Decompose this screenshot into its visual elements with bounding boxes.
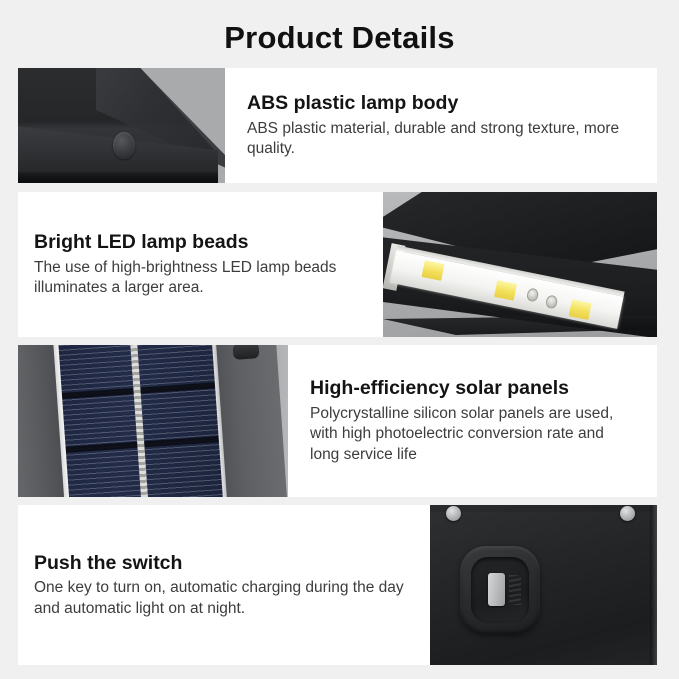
solar-frame-rail-right [211, 345, 288, 497]
solar-panel-photo [18, 345, 288, 497]
screw-hole-icon [446, 506, 461, 521]
feature-title: High-efficiency solar panels [310, 376, 635, 400]
page-title: Product Details [0, 20, 679, 56]
lamp-body-shadow [18, 172, 218, 183]
feature-row-bright-led-lamp-beads: Bright LED lamp beads The use of high-br… [18, 192, 657, 337]
solar-panel-clip [232, 345, 259, 360]
feature-title: Bright LED lamp beads [34, 230, 365, 254]
feature-card-push-the-switch: Push the switch One key to turn on, auto… [18, 505, 430, 665]
feature-description: One key to turn on, automatic charging d… [34, 578, 412, 619]
product-details-page: Product Details ABS plastic lamp body AB… [0, 0, 679, 679]
led-chip-icon [494, 280, 517, 301]
switch-marking [509, 575, 521, 605]
led-sensor-icon [526, 287, 539, 302]
feature-card-high-efficiency-solar-panels: High-efficiency solar panels Polycrystal… [288, 345, 657, 497]
lamp-body-button-icon [113, 132, 135, 159]
feature-title: Push the switch [34, 551, 412, 575]
feature-description: Polycrystalline silicon solar panels are… [310, 404, 635, 466]
feature-row-high-efficiency-solar-panels: High-efficiency solar panels Polycrystal… [18, 345, 657, 497]
feature-card-abs-plastic-lamp-body: ABS plastic lamp body ABS plastic materi… [225, 68, 657, 183]
switch-plate-edge [650, 505, 657, 665]
led-sensor-icon [545, 294, 558, 309]
led-chip-icon [422, 260, 445, 281]
feature-description: The use of high-brightness LED lamp bead… [34, 258, 365, 299]
abs-plastic-lamp-body-photo [18, 68, 225, 183]
switch-recess [471, 557, 529, 623]
power-switch-toggle [488, 573, 505, 606]
feature-row-abs-plastic-lamp-body: ABS plastic lamp body ABS plastic materi… [18, 68, 657, 183]
led-chip-icon [569, 299, 592, 320]
push-switch-photo [430, 505, 657, 665]
screw-hole-icon [620, 506, 635, 521]
feature-description: ABS plastic material, durable and strong… [247, 119, 635, 160]
switch-housing [460, 546, 540, 634]
led-lamp-beads-photo [383, 192, 657, 337]
feature-row-push-the-switch: Push the switch One key to turn on, auto… [18, 505, 657, 665]
feature-title: ABS plastic lamp body [247, 91, 635, 115]
feature-card-bright-led-lamp-beads: Bright LED lamp beads The use of high-br… [18, 192, 383, 337]
